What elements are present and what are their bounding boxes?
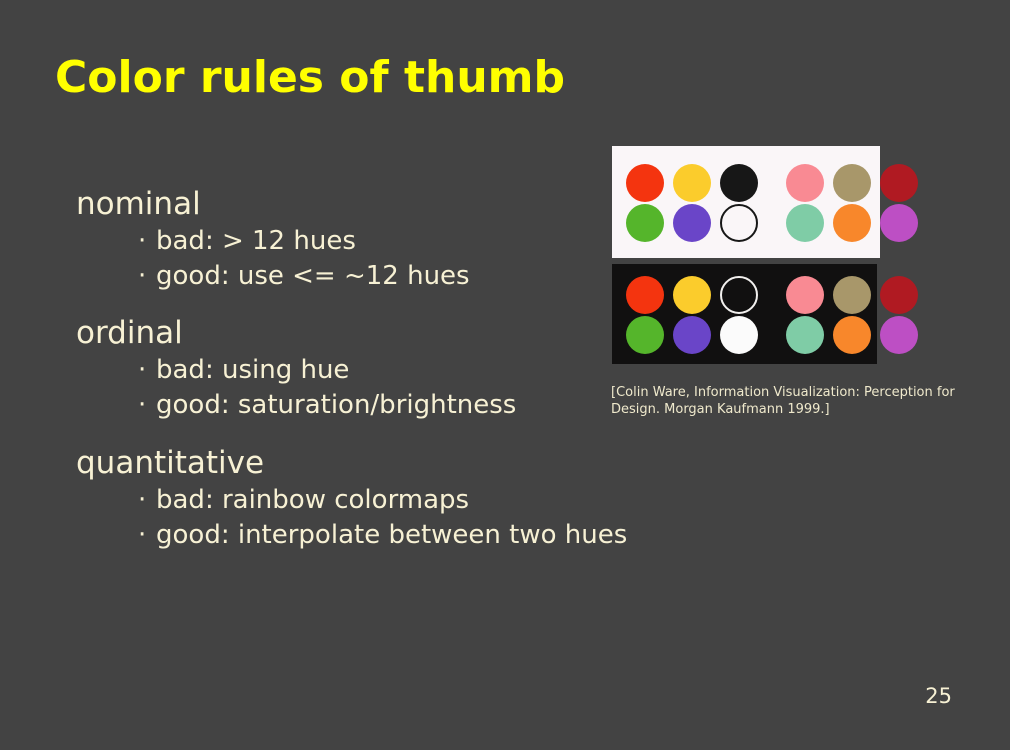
swatch-row (612, 314, 877, 356)
list-item-label: bad: > 12 hues (156, 224, 356, 259)
swatch-row (612, 162, 880, 204)
list-item-label: good: saturation/brightness (156, 388, 516, 423)
color-swatch (673, 276, 711, 314)
swatch-row (612, 202, 880, 244)
list-item: · bad: rainbow colormaps (138, 483, 596, 518)
bullet-dot-icon: · (138, 353, 156, 388)
bullet-dot-icon: · (138, 259, 156, 294)
color-swatch (880, 316, 918, 354)
color-swatch (720, 204, 758, 242)
page-title: Color rules of thumb (55, 52, 565, 103)
color-swatch (720, 316, 758, 354)
swatch-row (612, 274, 877, 316)
color-swatch (626, 204, 664, 242)
swatch-panel-black-background (612, 264, 877, 364)
list-item-label: good: use <= ~12 hues (156, 259, 470, 294)
swatch-panel-white-background (612, 146, 880, 258)
color-swatch (720, 164, 758, 202)
color-swatch (833, 164, 871, 202)
list-item-label: good: interpolate between two hues (156, 518, 627, 553)
color-swatch (786, 276, 824, 314)
content-group-nominal: nominal · bad: > 12 hues · good: use <= … (76, 186, 596, 293)
color-swatch (626, 316, 664, 354)
group-heading: quantitative (76, 445, 596, 483)
bullet-dot-icon: · (138, 518, 156, 553)
color-swatch (833, 316, 871, 354)
color-swatch (673, 316, 711, 354)
content-group-ordinal: ordinal · bad: using hue · good: saturat… (76, 315, 596, 422)
slide-canvas: Color rules of thumb nominal · bad: > 12… (0, 0, 1010, 750)
color-swatch (833, 276, 871, 314)
swatch-group-right (786, 204, 918, 242)
list-item: · bad: > 12 hues (138, 224, 596, 259)
swatch-group-right (786, 276, 918, 314)
list-item-label: bad: rainbow colormaps (156, 483, 469, 518)
figure-caption: [Colin Ware, Information Visualization: … (611, 384, 991, 419)
page-number: 25 (925, 684, 952, 708)
color-swatch (673, 164, 711, 202)
swatch-group-right (786, 164, 918, 202)
group-heading: nominal (76, 186, 596, 224)
list-item: · good: interpolate between two hues (138, 518, 596, 553)
bullet-list: nominal · bad: > 12 hues · good: use <= … (76, 186, 596, 552)
color-swatch (626, 164, 664, 202)
list-item-label: bad: using hue (156, 353, 349, 388)
color-swatch (880, 164, 918, 202)
color-swatch-figure (612, 146, 880, 364)
swatch-group-left (626, 316, 758, 354)
color-swatch (673, 204, 711, 242)
color-swatch (786, 204, 824, 242)
color-swatch (720, 276, 758, 314)
list-item: · bad: using hue (138, 353, 596, 388)
color-swatch (626, 276, 664, 314)
bullet-dot-icon: · (138, 483, 156, 518)
color-swatch (786, 164, 824, 202)
color-swatch (833, 204, 871, 242)
color-swatch (786, 316, 824, 354)
swatch-group-left (626, 204, 758, 242)
list-item: · good: use <= ~12 hues (138, 259, 596, 294)
content-group-quantitative: quantitative · bad: rainbow colormaps · … (76, 445, 596, 552)
bullet-dot-icon: · (138, 388, 156, 423)
swatch-group-left (626, 276, 758, 314)
color-swatch (880, 204, 918, 242)
color-swatch (880, 276, 918, 314)
group-heading: ordinal (76, 315, 596, 353)
swatch-group-right (786, 316, 918, 354)
swatch-group-left (626, 164, 758, 202)
list-item: · good: saturation/brightness (138, 388, 596, 423)
bullet-dot-icon: · (138, 224, 156, 259)
